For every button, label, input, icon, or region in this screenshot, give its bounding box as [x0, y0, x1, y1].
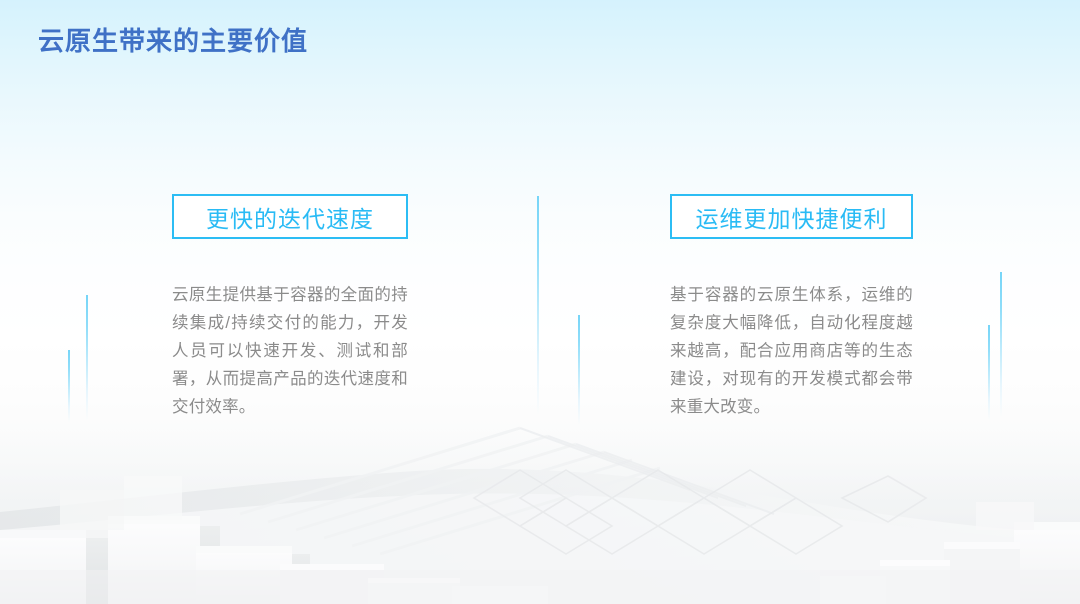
- accent-line-5: [1000, 272, 1002, 417]
- column-heading-faster-iteration: 更快的迭代速度: [172, 194, 408, 239]
- accent-line-6: [988, 325, 990, 420]
- page-title: 云原生带来的主要价值: [38, 21, 308, 58]
- column-body-easier-ops: 基于容器的云原生体系，运维的复杂度大幅降低，自动化程度越来越高，配合应用商店等的…: [670, 281, 913, 421]
- value-column-right: 运维更加快捷便利 基于容器的云原生体系，运维的复杂度大幅降低，自动化程度越来越高…: [670, 194, 913, 421]
- accent-line-1: [86, 295, 88, 420]
- column-heading-easier-ops: 运维更加快捷便利: [670, 194, 913, 239]
- value-column-left: 更快的迭代速度 云原生提供基于容器的全面的持续集成/持续交付的能力，开发人员可以…: [172, 194, 408, 421]
- accent-line-2: [68, 350, 70, 422]
- decorative-block-terrain: [0, 394, 1080, 604]
- column-body-faster-iteration: 云原生提供基于容器的全面的持续集成/持续交付的能力，开发人员可以快速开发、测试和…: [172, 281, 408, 421]
- accent-line-4: [578, 315, 580, 425]
- slide-canvas: 云原生带来的主要价值 更快的迭代速度 云原生提供基于容器的全面的持续集成/持续交…: [0, 0, 1080, 604]
- accent-line-3: [537, 196, 539, 416]
